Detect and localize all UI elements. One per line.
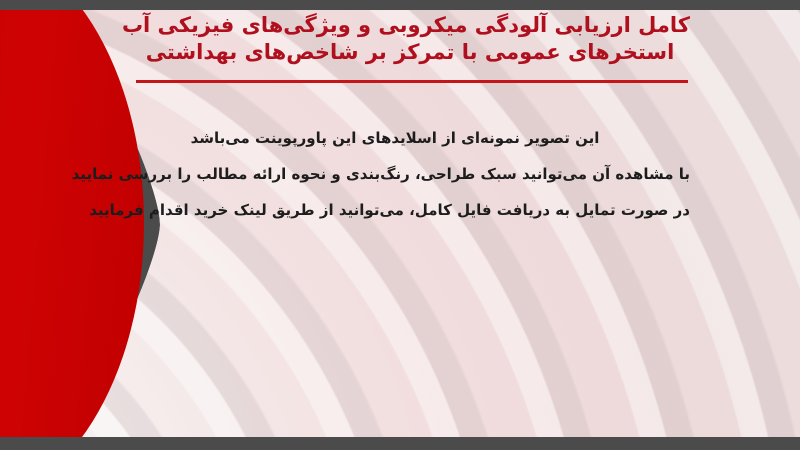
- slide-title-line-2: استخرهای عمومی با تمرکز بر شاخص‌های بهدا…: [130, 39, 690, 66]
- slide-title-line-1: کامل ارزیابی آلودگی میکروبی و ویژگی‌های …: [130, 12, 690, 39]
- bottom-frame-band: [0, 437, 800, 450]
- title-underline-rule: [136, 80, 688, 83]
- body-line-2: با مشاهده آن می‌توانید سبک طراحی، رنگ‌بن…: [100, 156, 690, 192]
- body-line-3: در صورت تمایل به دریافت فایل کامل، می‌تو…: [100, 192, 690, 228]
- slide-body: این تصویر نمونه‌ای از اسلایدهای این پاور…: [100, 120, 690, 228]
- slide-title: کامل ارزیابی آلودگی میکروبی و ویژگی‌های …: [130, 12, 690, 66]
- slide-canvas: کامل ارزیابی آلودگی میکروبی و ویژگی‌های …: [0, 0, 800, 450]
- top-frame-band: [0, 0, 800, 10]
- body-line-1: این تصویر نمونه‌ای از اسلایدهای این پاور…: [100, 120, 690, 156]
